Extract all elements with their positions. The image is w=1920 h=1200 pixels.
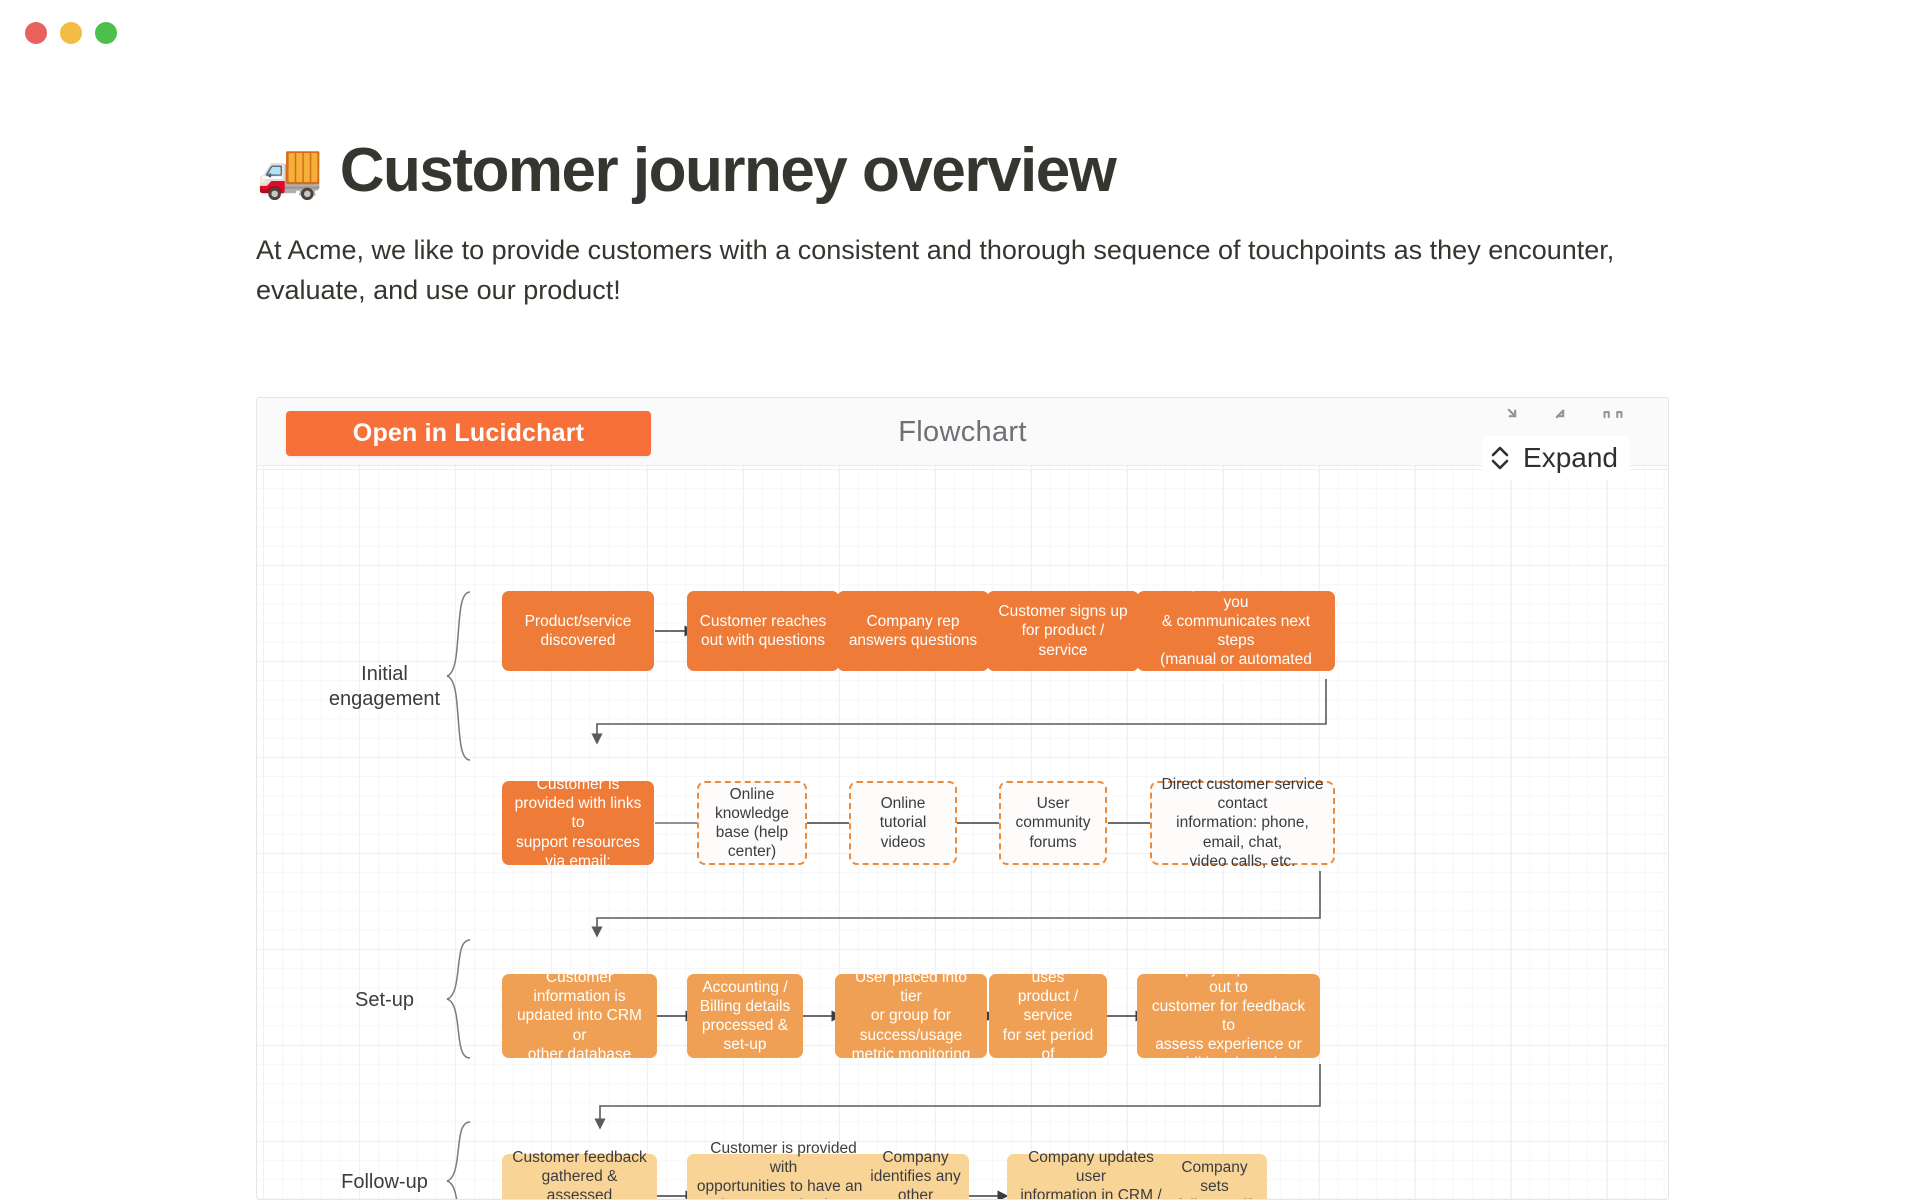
window-maximize-button[interactable]	[95, 22, 117, 44]
expand-corners-icon[interactable]	[1554, 407, 1576, 429]
flow-node-optional[interactable]: Onlinetutorialvideos	[849, 781, 957, 865]
flow-node[interactable]: Companysetsfollow-up ifneeded	[1162, 1154, 1267, 1200]
embed-title: Flowchart	[257, 416, 1668, 449]
lucidchart-embed: Open in Lucidchart Flowchart	[256, 397, 1669, 1200]
flowchart-canvas[interactable]: Initial engagement Set-up Follow-up Prod…	[257, 466, 1668, 1200]
flowchart-connectors	[257, 466, 1668, 1200]
swimlane-label-set-up: Set-up	[317, 988, 452, 1013]
collapse-corners-icon[interactable]	[1506, 407, 1528, 429]
flow-node[interactable]: Customer is provided withopportunities t…	[687, 1154, 880, 1200]
flow-node-optional[interactable]: Direct customer service contactinformati…	[1150, 781, 1335, 865]
flow-node[interactable]: Company rep reaches out tocustomer for f…	[1137, 974, 1320, 1058]
page-subtitle: At Acme, we like to provide customers wi…	[256, 231, 1656, 310]
flow-node[interactable]: User placed into tieror group forsuccess…	[835, 974, 987, 1058]
flow-node[interactable]: Company sends thank you& communicates ne…	[1137, 591, 1335, 671]
page-content: 🚚 Customer journey overview At Acme, we …	[0, 66, 1920, 310]
flow-node[interactable]: Customer feedbackgathered & assessedbase…	[502, 1154, 657, 1200]
truck-icon: 🚚	[256, 144, 322, 198]
expand-label: Expand	[1523, 442, 1618, 474]
flow-node[interactable]: Customer isprovided with links tosupport…	[502, 781, 654, 865]
flow-node[interactable]: Accounting /Billing detailsprocessed &se…	[687, 974, 803, 1058]
document-page: 🚚 Customer journey overview At Acme, we …	[0, 66, 1920, 1200]
embed-tool-group	[1506, 407, 1624, 429]
page-title: 🚚 Customer journey overview	[256, 138, 1920, 203]
flow-node[interactable]: Customer usesproduct / servicefor set pe…	[989, 974, 1107, 1058]
flow-node-optional[interactable]: Online knowledgebase (help center)	[697, 781, 807, 865]
fit-width-icon[interactable]	[1602, 407, 1624, 429]
page-title-text: Customer journey overview	[340, 138, 1116, 203]
swimlane-label-follow-up: Follow-up	[312, 1170, 457, 1195]
flow-node[interactable]: Customerinformation isupdated into CRM o…	[502, 974, 657, 1058]
window-minimize-button[interactable]	[60, 22, 82, 44]
swimlane-label-initial-engagement: Initial engagement	[317, 662, 452, 712]
chevron-up-down-icon	[1488, 443, 1512, 473]
embed-toolbar: Open in Lucidchart Flowchart	[257, 398, 1668, 466]
flow-node[interactable]: Company updates userinformation in CRM /…	[1007, 1154, 1175, 1200]
flow-node[interactable]: Company repanswers questions	[837, 591, 989, 671]
flow-node[interactable]: Product/servicediscovered	[502, 591, 654, 671]
flow-node-optional[interactable]: Usercommunityforums	[999, 781, 1107, 865]
flow-node[interactable]: Customer signs upfor product /service	[987, 591, 1139, 671]
flow-node[interactable]: Companyidentifies anyother customerneeds	[862, 1154, 969, 1200]
window-titlebar	[0, 0, 1920, 66]
window-close-button[interactable]	[25, 22, 47, 44]
expand-button[interactable]: Expand	[1482, 436, 1630, 480]
flow-node[interactable]: Customer reachesout with questions	[687, 591, 839, 671]
